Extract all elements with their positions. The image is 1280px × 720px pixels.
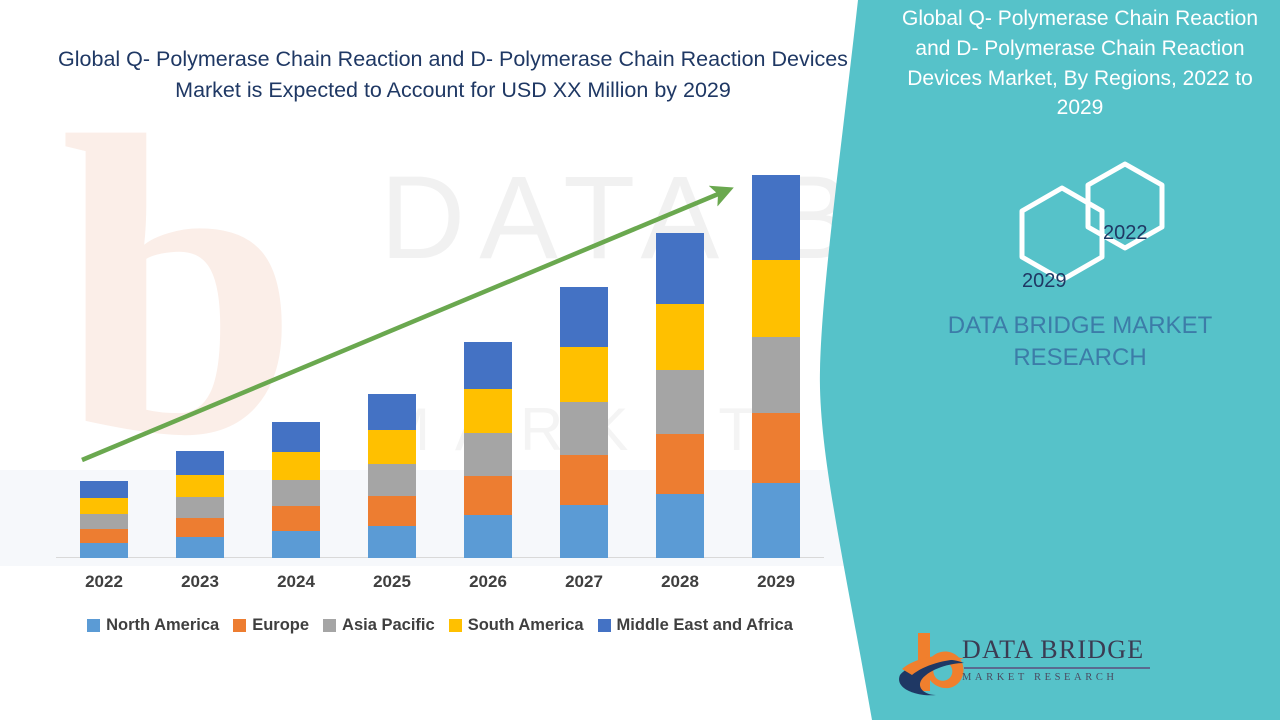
bar-segment	[272, 531, 320, 558]
slide-root: b DATA BRIDGE MARKET RESEARCH Global Q- …	[0, 0, 1280, 720]
x-axis-label: 2028	[632, 572, 728, 592]
legend-swatch-icon	[323, 619, 336, 632]
chart-title: Global Q- Polymerase Chain Reaction and …	[58, 44, 848, 105]
hexagon-outlines	[980, 160, 1200, 290]
bar-column	[536, 170, 632, 558]
legend-swatch-icon	[449, 619, 462, 632]
bar-segment	[272, 452, 320, 480]
x-axis-label: 2025	[344, 572, 440, 592]
stacked-bar-2025	[368, 394, 416, 558]
bar-segment	[464, 342, 512, 390]
bar-segment	[656, 233, 704, 305]
bar-segment	[752, 483, 800, 558]
bar-segment	[560, 347, 608, 402]
stacked-bar-2029	[752, 175, 800, 558]
bar-segment	[80, 514, 128, 529]
legend-item[interactable]: North America	[87, 616, 219, 635]
legend-swatch-icon	[233, 619, 246, 632]
bar-segment	[464, 476, 512, 516]
bar-column	[632, 170, 728, 558]
bar-segment	[176, 475, 224, 497]
bar-segment	[272, 480, 320, 507]
bar-segment	[368, 394, 416, 430]
bar-segment	[176, 518, 224, 537]
stacked-bar-2022	[80, 481, 128, 558]
bar-segment	[176, 451, 224, 475]
x-axis-labels: 20222023202420252026202720282029	[56, 572, 824, 592]
legend-item[interactable]: South America	[449, 616, 584, 635]
legend-item[interactable]: Middle East and Africa	[598, 616, 793, 635]
brand-name: DATA BRIDGE MARKET RESEARCH	[900, 310, 1260, 375]
x-axis-label: 2023	[152, 572, 248, 592]
bar-segment	[560, 455, 608, 505]
hexagon-label-start: 2022	[1103, 222, 1148, 245]
bar-segment	[656, 494, 704, 558]
logo-title: DATA BRIDGE	[962, 635, 1162, 665]
bar-segment	[368, 464, 416, 496]
legend-swatch-icon	[598, 619, 611, 632]
logo-text-block: DATA BRIDGE MARKET RESEARCH	[962, 635, 1162, 683]
bar-segment	[656, 434, 704, 494]
legend-label: Europe	[252, 616, 309, 635]
logo-divider	[964, 667, 1150, 669]
bar-segment	[464, 433, 512, 476]
hexagon-label-end: 2029	[1022, 270, 1067, 293]
chart-legend: North AmericaEuropeAsia PacificSouth Ame…	[40, 616, 840, 635]
bar-segment	[176, 537, 224, 558]
bar-segment	[368, 526, 416, 558]
bar-segment	[272, 506, 320, 531]
bar-segment	[80, 498, 128, 514]
panel-title: Global Q- Polymerase Chain Reaction and …	[894, 4, 1266, 123]
bar-column	[440, 170, 536, 558]
bar-segment	[560, 402, 608, 455]
bar-segment	[464, 515, 512, 558]
x-axis-label: 2024	[248, 572, 344, 592]
bar-segment	[560, 287, 608, 347]
bar-segment	[80, 529, 128, 543]
bar-segment	[80, 543, 128, 558]
bar-segment	[368, 496, 416, 526]
bar-segment	[560, 505, 608, 558]
bar-segment	[752, 337, 800, 412]
bar-segment	[752, 260, 800, 338]
legend-swatch-icon	[87, 619, 100, 632]
hexagon-pair: 2022 2029	[980, 160, 1200, 290]
stacked-bar-2023	[176, 451, 224, 558]
bar-column	[152, 170, 248, 558]
bar-segment	[368, 430, 416, 463]
bar-column	[248, 170, 344, 558]
bar-segment	[752, 175, 800, 259]
legend-label: Middle East and Africa	[617, 616, 793, 635]
bar-column	[344, 170, 440, 558]
bar-segment	[752, 413, 800, 483]
stacked-bar-2028	[656, 233, 704, 559]
chart-panel: Global Q- Polymerase Chain Reaction and …	[0, 0, 880, 720]
stacked-bar-2024	[272, 422, 320, 558]
legend-item[interactable]: Asia Pacific	[323, 616, 435, 635]
legend-item[interactable]: Europe	[233, 616, 309, 635]
x-axis-label: 2027	[536, 572, 632, 592]
bar-segment	[656, 304, 704, 370]
bar-segment	[272, 422, 320, 452]
stacked-bar-2027	[560, 287, 608, 558]
x-axis-label: 2026	[440, 572, 536, 592]
bar-segment	[176, 497, 224, 518]
stacked-bar-2026	[464, 342, 512, 558]
bar-segment	[656, 370, 704, 434]
teal-side-panel: Global Q- Polymerase Chain Reaction and …	[880, 0, 1280, 720]
x-axis-label: 2022	[56, 572, 152, 592]
stacked-bar-group	[56, 170, 824, 558]
legend-label: Asia Pacific	[342, 616, 435, 635]
hexagon-2029	[1022, 188, 1102, 280]
logo-subtitle: MARKET RESEARCH	[962, 672, 1162, 683]
legend-label: North America	[106, 616, 219, 635]
bar-segment	[80, 481, 128, 498]
bar-segment	[464, 389, 512, 433]
legend-label: South America	[468, 616, 584, 635]
bar-column	[56, 170, 152, 558]
